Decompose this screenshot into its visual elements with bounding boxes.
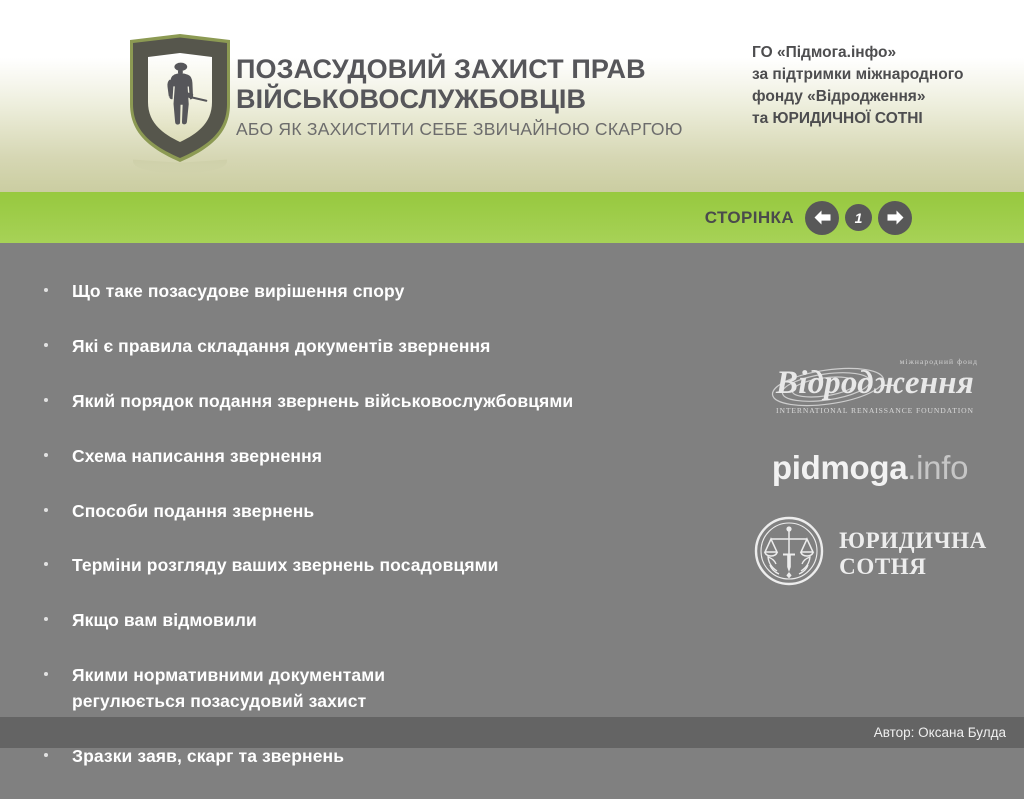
list-item-label: Способи подання звернень [72,501,314,521]
pidmoga-name: pidmoga [772,449,907,486]
list-item-label: Зразки заяв, скарг та звернень [72,746,344,766]
pagination-bar: СТОРІНКА 1 [0,192,1024,243]
list-item-label: Якщо вам відмовили [72,610,257,630]
support-line-4: та ЮРИДИЧНОЇ СОТНІ [752,108,1022,130]
list-item[interactable]: Терміни розгляду ваших звернень посадовц… [40,553,700,579]
arrow-right-icon [886,209,905,226]
list-item-label: Що таке позасудове вирішення спору [72,281,404,301]
vidrodzhennia-logo: міжнародний фонд Відродження INTERNATION… [770,355,980,417]
title-line-2: ВІЙСЬКОВОСЛУЖБОВЦІВ [236,84,736,114]
support-line-3: фонду «Відродження» [752,86,1022,108]
vidrodzhennia-wordmark: Відродження [770,365,980,402]
page-header: ПОЗАСУДОВИЙ ЗАХИСТ ПРАВ ВІЙСЬКОВОСЛУЖБОВ… [0,0,1024,192]
main-content: Що таке позасудове вирішення спору Які є… [0,243,1024,717]
author-credit: Автор: Оксана Булда [874,725,1006,740]
pagination-label: СТОРІНКА [705,208,794,228]
list-item-label: Які є правила складання документів зверн… [72,336,490,356]
vidrodzhennia-tagline-bottom: INTERNATIONAL RENAISSANCE FOUNDATION [770,406,980,415]
partner-logos: міжнародний фонд Відродження INTERNATION… [735,355,1005,592]
support-line-1: ГО «Підмога.інфо» [752,42,1022,64]
sotnia-line-2: СОТНЯ [839,554,987,580]
page-number: 1 [855,210,863,226]
list-item[interactable]: Якщо вам відмовили [40,608,700,634]
page-title: ПОЗАСУДОВИЙ ЗАХИСТ ПРАВ ВІЙСЬКОВОСЛУЖБОВ… [236,54,736,140]
list-item[interactable]: Способи подання звернень [40,499,700,525]
list-item-label: Терміни розгляду ваших звернень посадовц… [72,555,499,575]
arrow-left-icon [813,209,832,226]
page-subtitle: АБО ЯК ЗАХИСТИТИ СЕБЕ ЗВИЧАЙНОЮ СКАРГОЮ [236,119,736,140]
list-item[interactable]: Що таке позасудове вирішення спору [40,279,700,305]
pidmoga-tld: .info [907,449,968,486]
list-item[interactable]: Який порядок подання звернень військовос… [40,389,700,415]
page-footer: Автор: Оксана Булда [0,717,1024,748]
support-credits: ГО «Підмога.інфо» за підтримки міжнародн… [752,42,1022,130]
prev-page-button[interactable] [805,201,839,235]
support-line-2: за підтримки міжнародного [752,64,1022,86]
list-item-label-line2: регулюється позасудовий захист [72,689,700,715]
next-page-button[interactable] [878,201,912,235]
list-item-label: Схема написання звернення [72,446,322,466]
title-line-1: ПОЗАСУДОВИЙ ЗАХИСТ ПРАВ [236,54,736,84]
list-item-label: Якими нормативними документами [72,665,385,685]
scales-of-justice-icon [753,515,825,592]
sotnia-logo: ЮРИДИЧНА СОТНЯ [735,515,1005,592]
list-item[interactable]: Які є правила складання документів зверн… [40,334,700,360]
sotnia-line-1: ЮРИДИЧНА [839,528,987,554]
list-item[interactable]: Якими нормативними документами регулюєть… [40,663,700,715]
list-item[interactable]: Схема написання звернення [40,444,700,470]
shield-soldier-icon [126,32,234,180]
current-page-indicator: 1 [845,204,872,231]
list-item-label: Який порядок подання звернень військовос… [72,391,573,411]
pidmoga-logo: pidmoga.info [735,449,1005,487]
sotnia-wordmark: ЮРИДИЧНА СОТНЯ [839,528,987,580]
